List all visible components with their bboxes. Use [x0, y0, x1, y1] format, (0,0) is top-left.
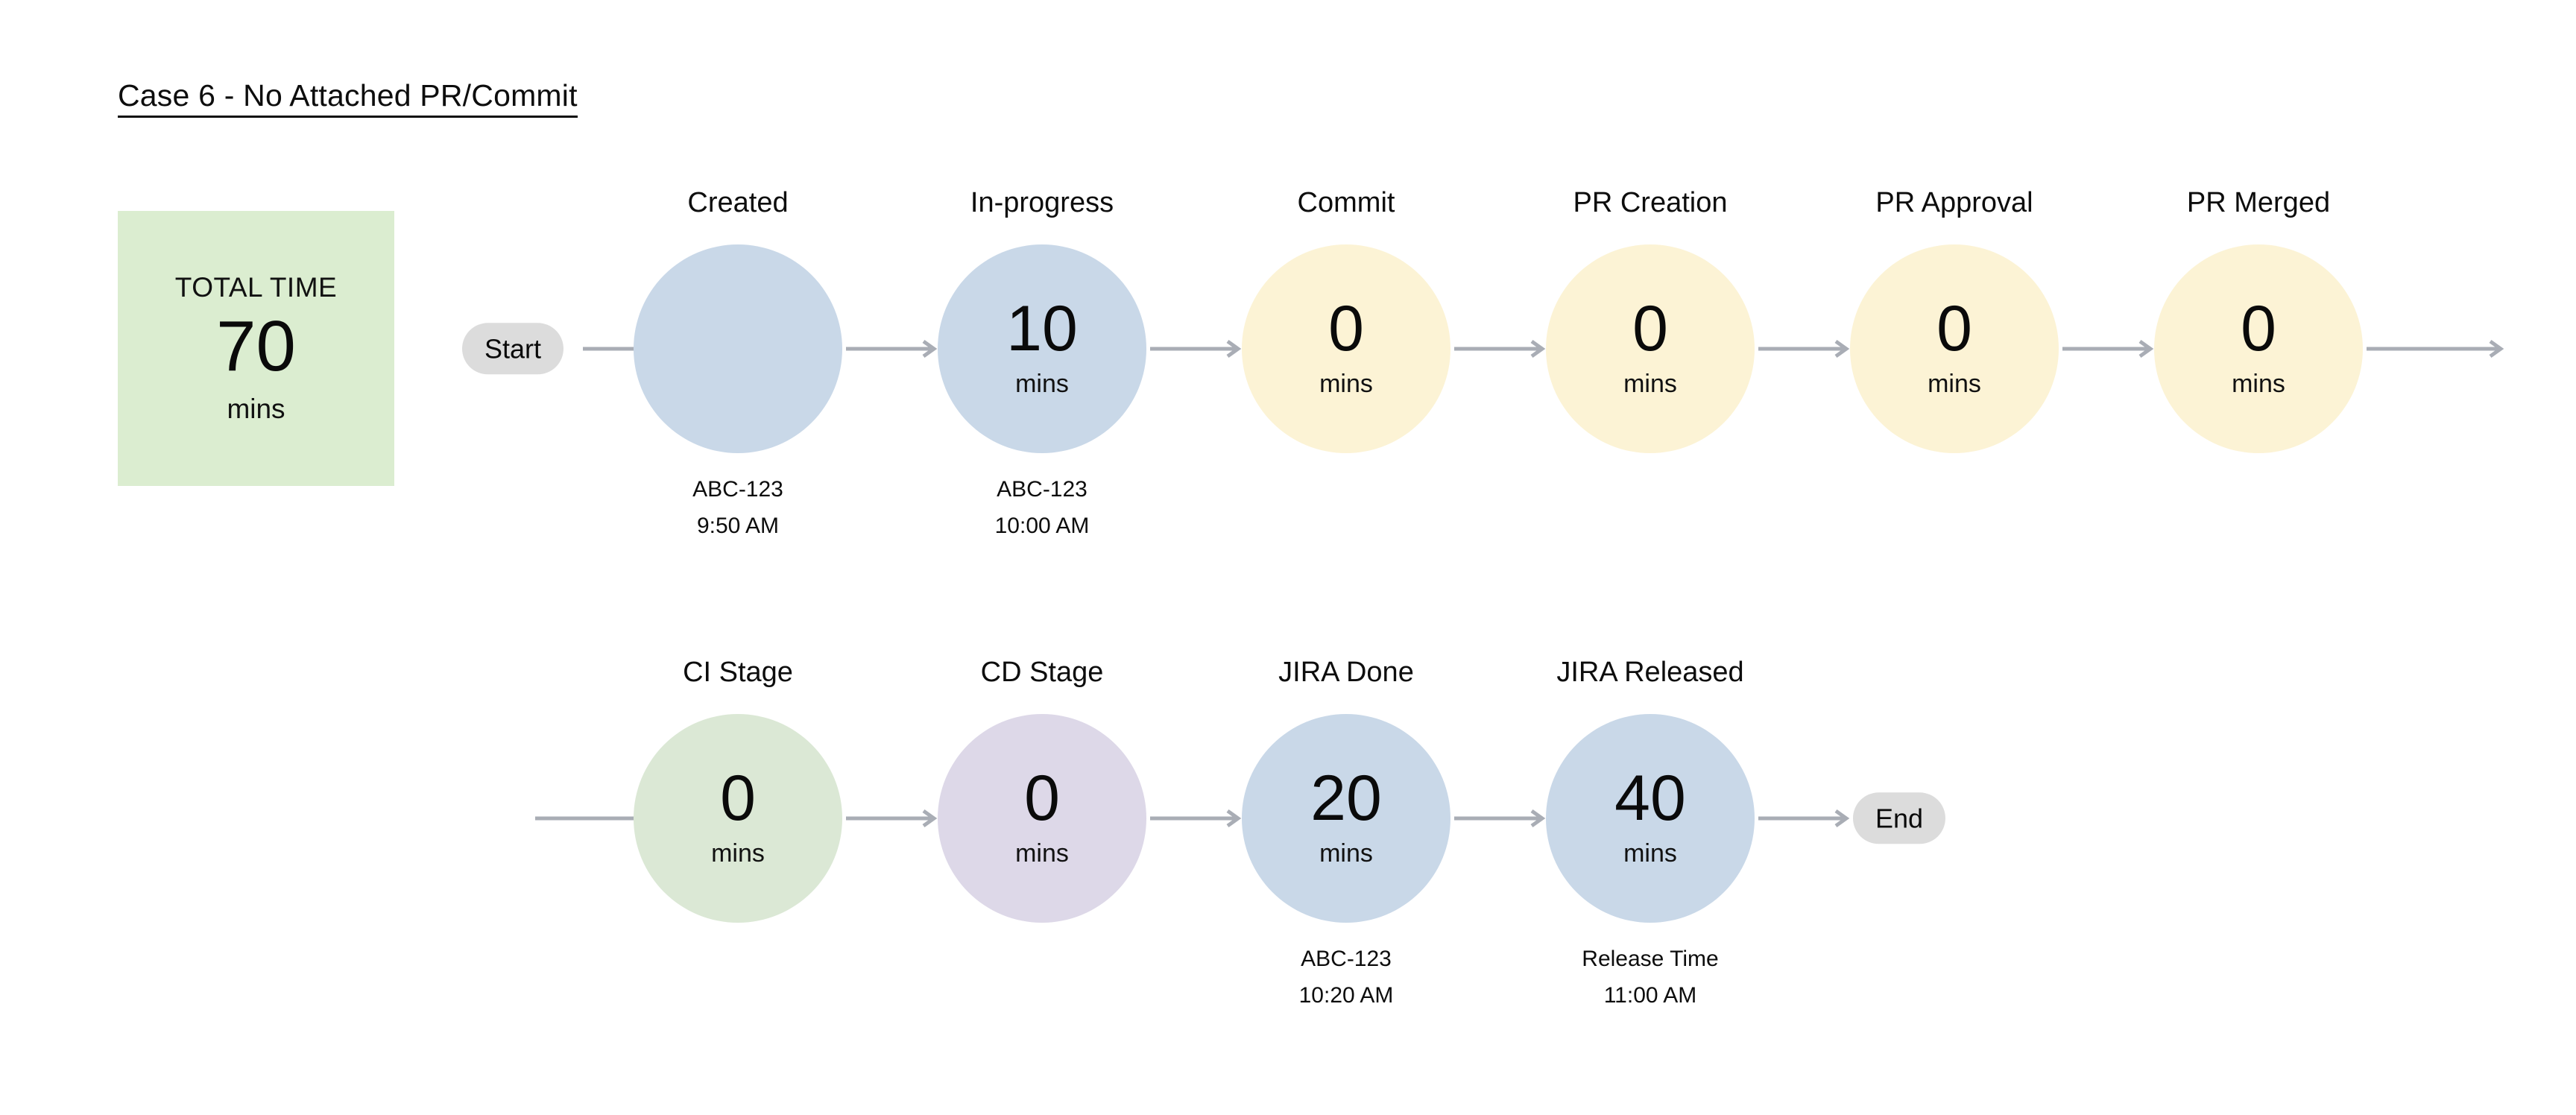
connector-arrow [846, 334, 941, 364]
node-unit: mins [1928, 370, 1981, 399]
node-commit[interactable]: 0 mins [1242, 244, 1450, 453]
total-time-unit: mins [227, 394, 285, 425]
caption-line-1: Release Time [1582, 941, 1718, 978]
node-caption-jira-done: ABC-123 10:20 AM [1299, 941, 1394, 1014]
connector-arrow [1150, 334, 1246, 364]
node-pr-approval[interactable]: 0 mins [1850, 244, 2059, 453]
node-label-cd-stage: CD Stage [981, 657, 1104, 689]
node-unit: mins [1623, 370, 1677, 399]
connector-arrow [1454, 334, 1550, 364]
node-caption-created: ABC-123 9:50 AM [692, 472, 783, 544]
connector-arrow [2062, 334, 2158, 364]
node-label-pr-creation: PR Creation [1573, 187, 1728, 219]
node-unit: mins [1623, 839, 1677, 868]
node-jira-released[interactable]: 40 mins [1546, 714, 1755, 923]
node-value: 20 [1310, 768, 1382, 830]
node-unit: mins [2232, 370, 2285, 399]
start-pill[interactable]: Start [462, 323, 563, 374]
node-label-commit: Commit [1298, 187, 1395, 219]
page-title: Case 6 - No Attached PR/Commit [118, 80, 578, 118]
node-label-pr-approval: PR Approval [1875, 187, 2033, 219]
node-pr-creation[interactable]: 0 mins [1546, 244, 1755, 453]
caption-line-2: 11:00 AM [1582, 978, 1718, 1014]
caption-line-1: ABC-123 [995, 472, 1090, 508]
total-time-card: TOTAL TIME 70 mins [118, 211, 394, 486]
node-pr-merged[interactable]: 0 mins [2154, 244, 2363, 453]
node-unit: mins [711, 839, 765, 868]
node-value: 0 [720, 768, 756, 830]
node-cd-stage[interactable]: 0 mins [938, 714, 1146, 923]
node-unit: mins [1319, 839, 1373, 868]
node-label-jira-released: JIRA Released [1556, 657, 1743, 689]
node-jira-done[interactable]: 20 mins [1242, 714, 1450, 923]
connector-arrow [846, 803, 941, 833]
node-value: 0 [2241, 299, 2276, 360]
total-time-value: 70 [216, 309, 296, 385]
caption-line-2: 9:50 AM [692, 508, 783, 545]
node-caption-in-progress: ABC-123 10:00 AM [995, 472, 1090, 544]
node-label-in-progress: In-progress [970, 187, 1114, 219]
node-unit: mins [1319, 370, 1373, 399]
node-label-created: Created [687, 187, 788, 219]
node-value: 0 [1632, 299, 1668, 360]
node-value: 0 [1936, 299, 1972, 360]
connector-arrow [1758, 334, 1854, 364]
node-value: 40 [1614, 768, 1686, 830]
node-in-progress[interactable]: 10 mins [938, 244, 1146, 453]
total-time-label: TOTAL TIME [175, 272, 337, 303]
connector-arrow [1454, 803, 1550, 833]
node-value: 0 [1328, 299, 1364, 360]
node-ci-stage[interactable]: 0 mins [634, 714, 842, 923]
node-unit: mins [1015, 839, 1069, 868]
node-label-ci-stage: CI Stage [683, 657, 793, 689]
node-label-jira-done: JIRA Done [1278, 657, 1414, 689]
node-created[interactable]: mins [634, 244, 842, 453]
connector-arrow-wrap-out [2367, 334, 2508, 364]
node-caption-jira-released: Release Time 11:00 AM [1582, 941, 1718, 1014]
node-unit: mins [1015, 370, 1069, 399]
caption-line-1: ABC-123 [1299, 941, 1394, 978]
node-value: 10 [1006, 299, 1078, 360]
end-pill[interactable]: End [1853, 792, 1945, 844]
connector-arrow [1758, 803, 1854, 833]
connector-arrow [1150, 803, 1246, 833]
node-value: 0 [1024, 768, 1060, 830]
node-label-pr-merged: PR Merged [2187, 187, 2330, 219]
caption-line-1: ABC-123 [692, 472, 783, 508]
caption-line-2: 10:00 AM [995, 508, 1090, 545]
caption-line-2: 10:20 AM [1299, 978, 1394, 1014]
